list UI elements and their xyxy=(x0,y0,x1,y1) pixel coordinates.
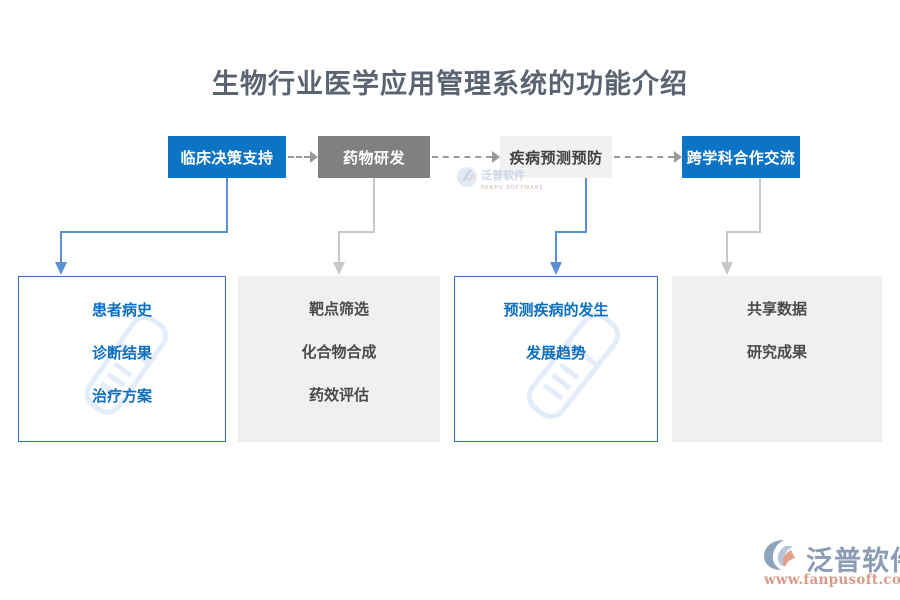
arrowhead-icon xyxy=(492,151,500,163)
flow-node-disease-prediction[interactable]: 疾病预测预防 xyxy=(500,136,612,178)
page-title: 生物行业医学应用管理系统的功能介绍 xyxy=(0,62,900,101)
detail-item-list: 预测疾病的发生 发展趋势 xyxy=(455,277,657,361)
detail-item: 靶点筛选 xyxy=(238,302,440,317)
dashed-arrow-icon xyxy=(288,150,318,164)
dashed-arrow-icon xyxy=(614,150,682,164)
detail-item: 发展趋势 xyxy=(455,346,657,361)
flow-node-label: 临床决策支持 xyxy=(180,147,273,168)
diagram-canvas: 生物行业医学应用管理系统的功能介绍 临床决策支持 药物研发 疾病预测预防 跨学科… xyxy=(0,0,900,600)
detail-panel-interdisciplinary-collaboration[interactable]: 共享数据 研究成果 xyxy=(672,276,882,442)
detail-item: 诊断结果 xyxy=(19,346,225,361)
detail-item-list: 共享数据 研究成果 xyxy=(672,276,882,360)
flow-node-label: 疾病预测预防 xyxy=(509,147,602,168)
arrowhead-icon xyxy=(310,151,318,163)
dashed-arrow-icon xyxy=(432,150,500,164)
arrowhead-icon xyxy=(674,151,682,163)
detail-item: 共享数据 xyxy=(672,302,882,317)
dashed-line xyxy=(614,156,674,158)
detail-item: 治疗方案 xyxy=(19,389,225,404)
detail-panel-disease-prediction[interactable]: 预测疾病的发生 发展趋势 xyxy=(454,276,658,442)
detail-item: 预测疾病的发生 xyxy=(455,303,657,318)
flow-node-interdisciplinary-collaboration[interactable]: 跨学科合作交流 xyxy=(682,136,800,178)
elbow-connector-collaboration xyxy=(704,176,784,280)
detail-item: 研究成果 xyxy=(672,345,882,360)
detail-item-list: 患者病史 诊断结果 治疗方案 xyxy=(19,277,225,404)
brand-logo: 泛普软件 www.fanpusoft.com xyxy=(762,538,894,594)
flow-node-label: 跨学科合作交流 xyxy=(687,147,796,168)
detail-item: 化合物合成 xyxy=(238,345,440,360)
detail-item-list: 靶点筛选 化合物合成 药效评估 xyxy=(238,276,440,403)
elbow-connector-drug xyxy=(320,176,400,280)
fanpu-mark-icon xyxy=(762,538,804,572)
flow-node-label: 药物研发 xyxy=(343,147,405,168)
elbow-connector-prediction xyxy=(536,176,616,280)
dashed-line xyxy=(432,156,492,158)
watermark-subtext: FANPU SOFTWARE xyxy=(481,185,544,191)
detail-item: 药效评估 xyxy=(238,388,440,403)
flow-node-clinical-decision-support[interactable]: 临床决策支持 xyxy=(168,136,286,178)
detail-item: 患者病史 xyxy=(19,303,225,318)
detail-panel-clinical-decision-support[interactable]: 患者病史 诊断结果 治疗方案 xyxy=(18,276,226,442)
elbow-connector-clinical xyxy=(40,176,250,280)
detail-panel-drug-research[interactable]: 靶点筛选 化合物合成 药效评估 xyxy=(238,276,440,442)
dashed-line xyxy=(288,156,310,158)
brand-url: www.fanpusoft.com xyxy=(764,572,900,588)
flow-node-drug-research[interactable]: 药物研发 xyxy=(318,136,430,178)
